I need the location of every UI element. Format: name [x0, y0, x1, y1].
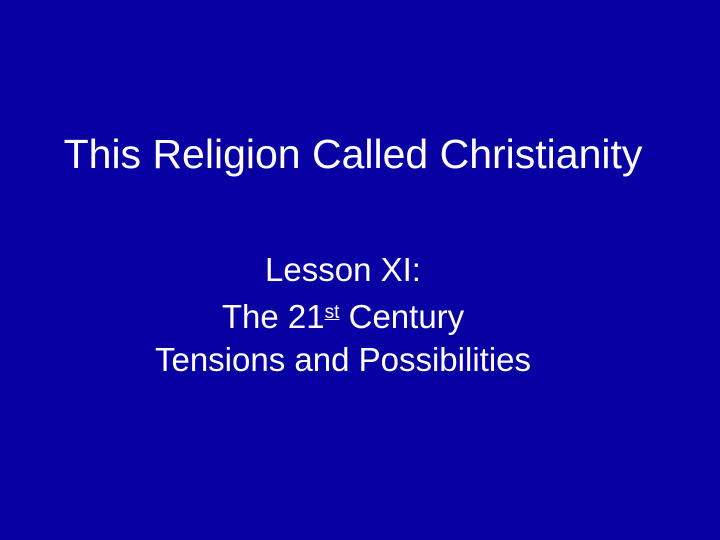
slide-subtitle: Lesson XI: The 21st Century Tensions and…	[0, 248, 720, 381]
slide-title: This Religion Called Christianity	[0, 130, 720, 178]
presentation-slide: This Religion Called Christianity Lesson…	[0, 0, 720, 540]
ordinal-suffix-st: st	[325, 302, 340, 323]
century-suffix-text: Century	[339, 298, 464, 335]
century-prefix-text: The 21	[222, 298, 325, 335]
subtitle-line-tensions: Tensions and Possibilities	[0, 338, 686, 381]
subtitle-line-lesson: Lesson XI:	[0, 248, 686, 291]
subtitle-line-century: The 21st Century	[0, 291, 686, 338]
